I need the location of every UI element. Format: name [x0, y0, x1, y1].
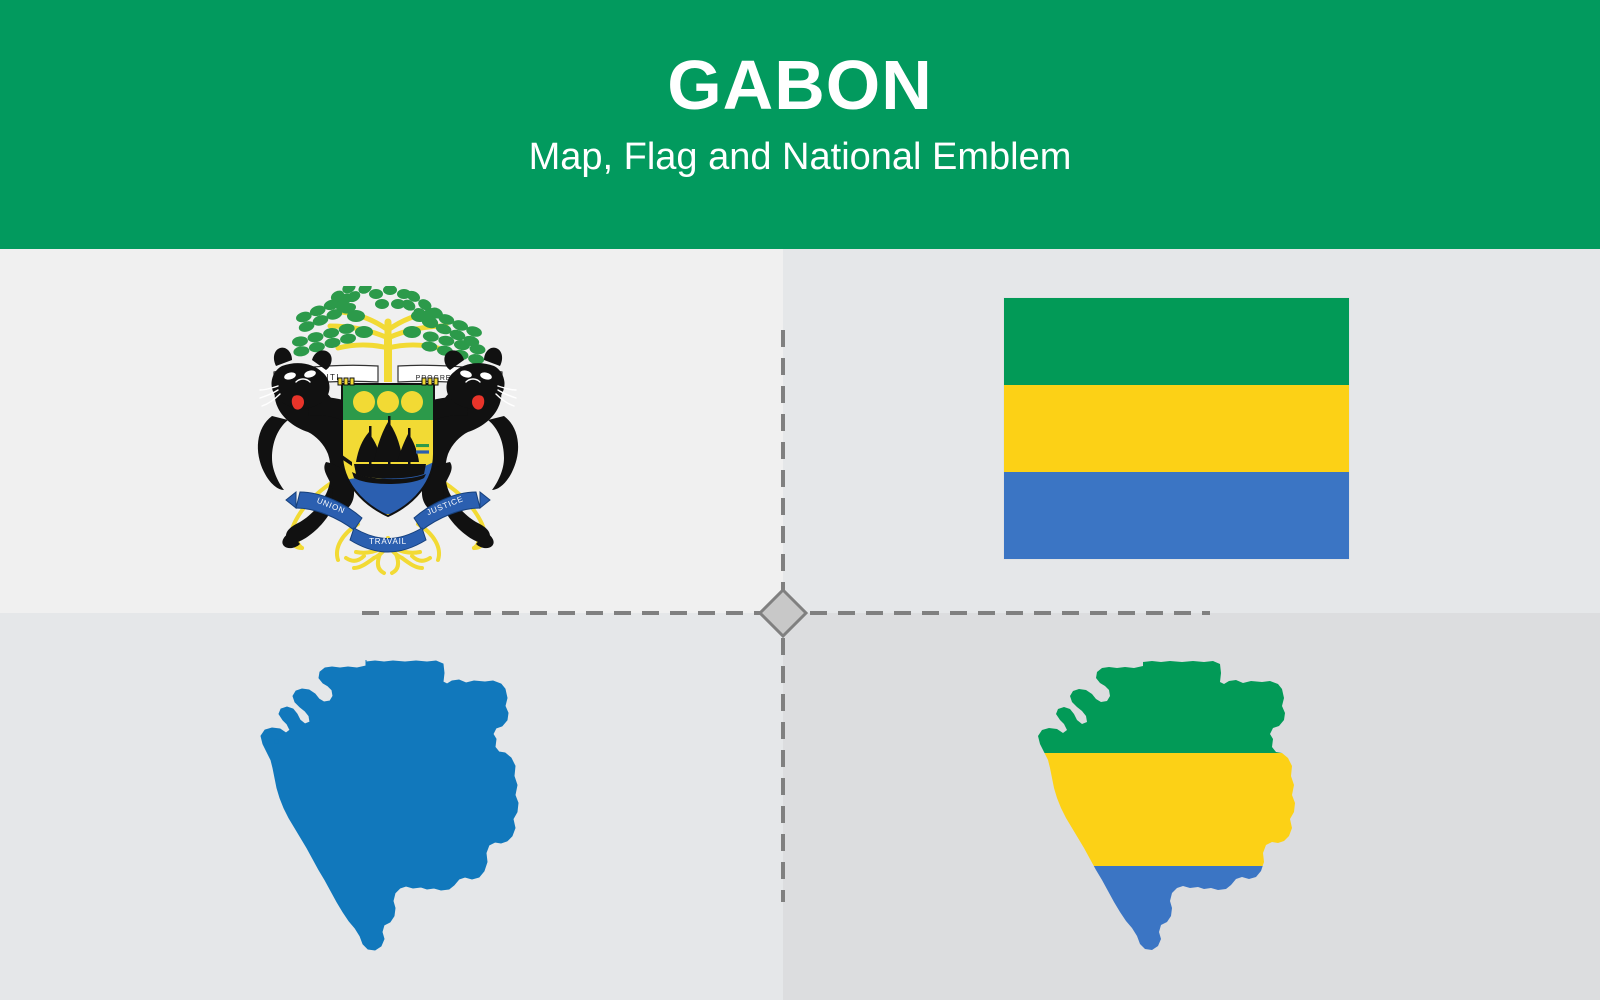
emblem-ship-flag: [416, 444, 429, 454]
map-with-flag: [1025, 640, 1325, 952]
emblem-shield-discs: [353, 391, 423, 413]
flag-stripe-green: [1004, 298, 1349, 385]
map-silhouette: [253, 640, 543, 952]
emblem-motto-travail: TRAVAIL: [369, 537, 407, 546]
national-flag: [1004, 298, 1349, 559]
divider-diamond-icon: [757, 587, 809, 639]
national-emblem: UNITI PROGREDIEMUR: [238, 286, 538, 576]
page-title: GABON: [667, 46, 933, 124]
poster-canvas: GABON Map, Flag and National Emblem: [0, 0, 1600, 1000]
flag-stripe-blue: [1004, 472, 1349, 559]
map-silhouette-path: [261, 660, 518, 950]
flag-stripe-yellow: [1004, 385, 1349, 472]
page-subtitle: Map, Flag and National Emblem: [529, 134, 1072, 180]
map-stripe-blue: [1030, 866, 1320, 952]
map-stripe-green: [1030, 640, 1320, 753]
map-stripe-yellow: [1030, 753, 1320, 866]
header-banner: GABON Map, Flag and National Emblem: [0, 0, 1600, 249]
map-flag-stripes: [1030, 640, 1320, 952]
